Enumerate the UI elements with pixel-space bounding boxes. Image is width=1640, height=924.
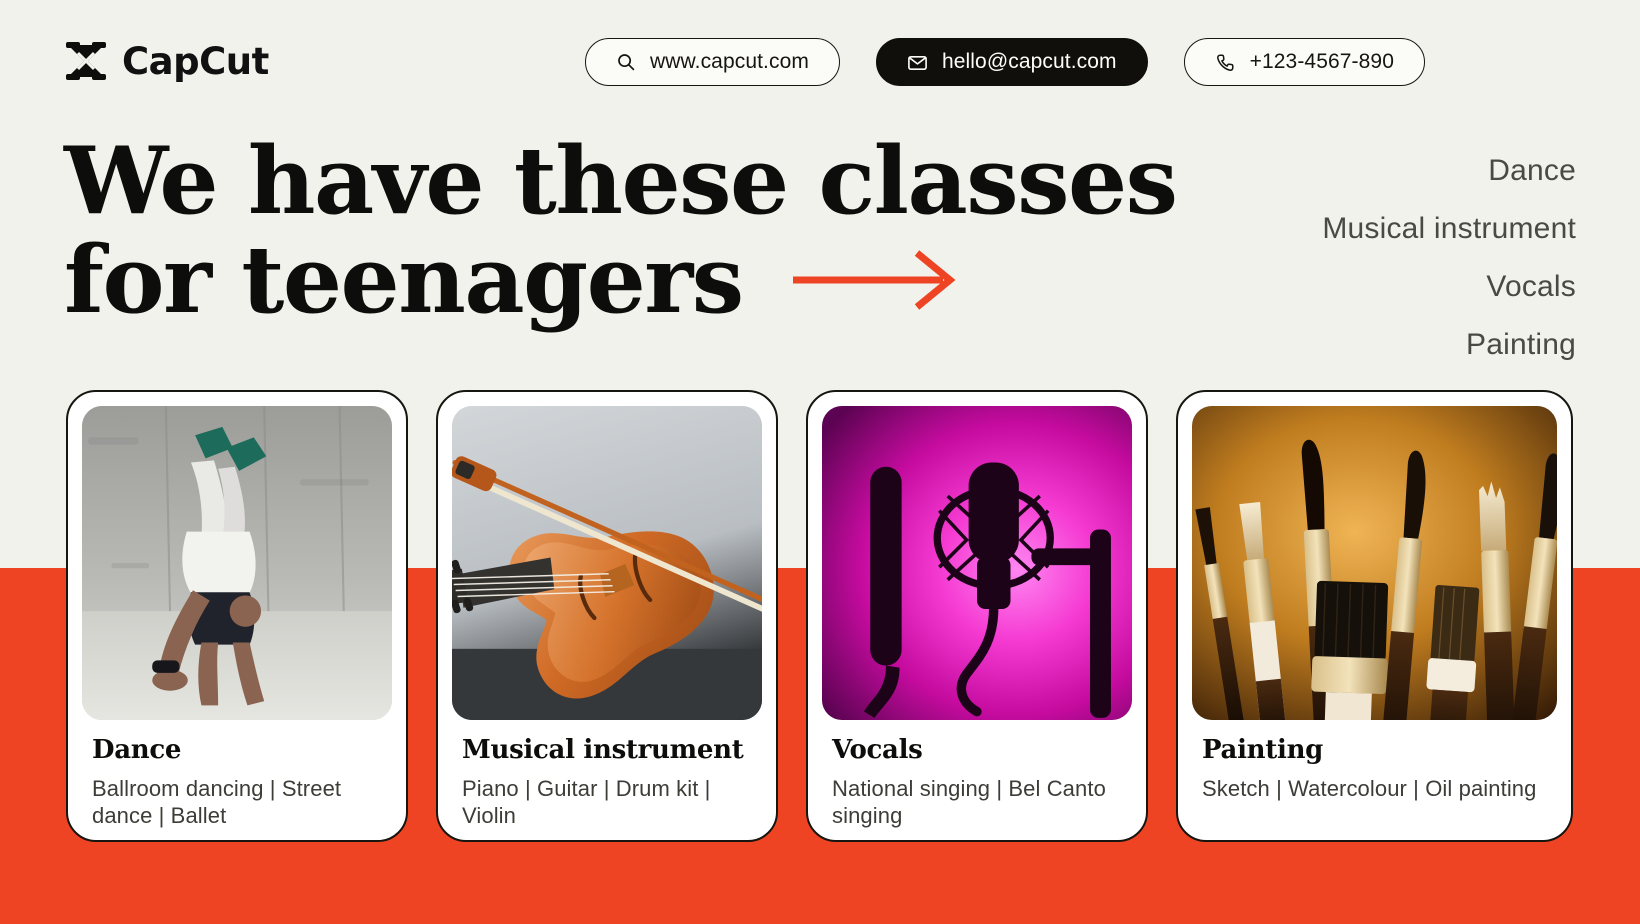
- card-body: Dance Ballroom dancing | Street dance | …: [82, 720, 392, 830]
- violin-and-bow-photo: [452, 406, 762, 720]
- email-pill-label: hello@capcut.com: [942, 50, 1117, 74]
- nav-item-musical-instrument[interactable]: Musical instrument: [1322, 200, 1576, 258]
- poster-root: CapCut www.capcut.com hello@capcut.com: [0, 0, 1640, 924]
- card-image-musical-instrument: [452, 406, 762, 720]
- card-title: Dance: [92, 736, 382, 765]
- card-title: Musical instrument: [462, 736, 752, 765]
- class-card[interactable]: Painting Sketch | Watercolour | Oil pain…: [1176, 390, 1573, 842]
- phone-pill[interactable]: +123-4567-890: [1184, 38, 1425, 86]
- card-image-vocals: [822, 406, 1132, 720]
- class-card[interactable]: Vocals National singing | Bel Canto sing…: [806, 390, 1148, 842]
- paint-brushes-photo: [1192, 406, 1557, 720]
- website-pill[interactable]: www.capcut.com: [585, 38, 840, 86]
- card-title: Painting: [1202, 736, 1547, 765]
- contact-pill-row: www.capcut.com hello@capcut.com +123-456…: [585, 38, 1425, 86]
- card-title: Vocals: [832, 736, 1122, 765]
- nav-item-vocals[interactable]: Vocals: [1322, 258, 1576, 316]
- card-description: Piano | Guitar | Drum kit | Violin: [462, 775, 752, 830]
- phone-pill-label: +123-4567-890: [1250, 50, 1394, 74]
- class-card[interactable]: Dance Ballroom dancing | Street dance | …: [66, 390, 408, 842]
- headline-line-2-row: for teenagers: [64, 231, 1184, 330]
- card-image-dance: [82, 406, 392, 720]
- headline-line-2: for teenagers: [64, 231, 743, 330]
- card-description: National singing | Bel Canto singing: [832, 775, 1122, 830]
- card-description: Ballroom dancing | Street dance | Ballet: [92, 775, 382, 830]
- headline-line-1: We have these classes: [64, 132, 1184, 231]
- class-card[interactable]: Musical instrument Piano | Guitar | Drum…: [436, 390, 778, 842]
- studio-microphone-magenta-photo: [822, 406, 1132, 720]
- nav-item-dance[interactable]: Dance: [1322, 142, 1576, 200]
- mail-icon: [907, 52, 928, 73]
- capcut-hourglass-logo-icon: [64, 39, 108, 83]
- card-body: Musical instrument Piano | Guitar | Drum…: [452, 720, 762, 830]
- phone-icon: [1215, 52, 1236, 73]
- email-pill[interactable]: hello@capcut.com: [876, 38, 1148, 86]
- card-description: Sketch | Watercolour | Oil painting: [1202, 775, 1547, 803]
- nav-item-painting[interactable]: Painting: [1322, 316, 1576, 374]
- card-body: Vocals National singing | Bel Canto sing…: [822, 720, 1132, 830]
- brand-logo-group[interactable]: CapCut: [64, 39, 269, 83]
- website-pill-label: www.capcut.com: [650, 50, 809, 74]
- search-icon: [616, 52, 636, 72]
- brand-name: CapCut: [122, 43, 269, 80]
- headline: We have these classes for teenagers: [64, 132, 1184, 329]
- header: CapCut www.capcut.com hello@capcut.com: [0, 0, 1640, 122]
- card-image-painting: [1192, 406, 1557, 720]
- arrow-right-icon[interactable]: [791, 248, 959, 312]
- card-body: Painting Sketch | Watercolour | Oil pain…: [1192, 720, 1557, 802]
- category-nav-list: Dance Musical instrument Vocals Painting: [1322, 142, 1576, 374]
- breakdancer-handstand-photo: [82, 406, 392, 720]
